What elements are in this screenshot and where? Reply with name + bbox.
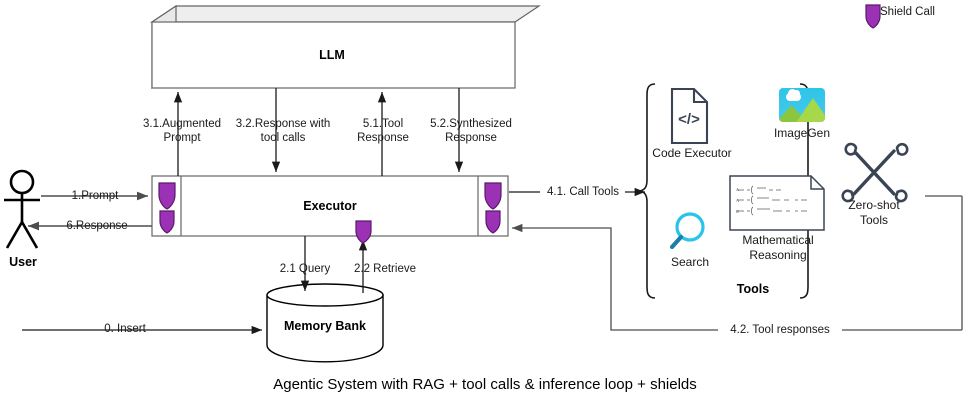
- image-picture-icon[interactable]: [779, 88, 825, 122]
- tools-left-brace: [640, 84, 655, 298]
- edge-label-prompt: 1.Prompt: [40, 189, 150, 203]
- llm-node-label: LLM: [232, 48, 432, 62]
- magnifying-glass-icon[interactable]: [672, 214, 703, 247]
- user-actor-label: User: [0, 255, 46, 269]
- tool-label-mathematical-reasoning: Mathematical Reasoning: [735, 233, 821, 263]
- edge-label-tool-responses: 4.2. Tool responses: [718, 323, 842, 337]
- edge-label-response: 6.Response: [42, 219, 152, 233]
- diagram-vector-layer: </> A A B: [0, 0, 970, 411]
- tool-label-search: Search: [655, 255, 725, 270]
- edge-label-tool-response: 5.1.Tool Response: [345, 117, 421, 145]
- edge-label-augmented-prompt: 3.1.Augmented Prompt: [138, 117, 226, 145]
- edge-label-insert: 0. Insert: [60, 322, 190, 336]
- edge-label-retrieve: 2.2 Retrieve: [330, 262, 440, 276]
- tool-label-imagegen: ImageGen: [757, 126, 847, 141]
- diagram-caption: Agentic System with RAG + tool calls & i…: [0, 376, 970, 393]
- shield-icon-executor-memory: [356, 221, 371, 243]
- tool-label-zero-shot-tools: Zero-shot Tools: [837, 198, 911, 228]
- tools-group-label: Tools: [718, 282, 788, 296]
- diagram-canvas: </> A A B: [0, 0, 970, 411]
- cloud-icon: [786, 93, 801, 101]
- image-hill-right: [795, 98, 825, 122]
- executor-node-label: Executor: [230, 199, 430, 213]
- edge-label-call-tools: 4.1. Call Tools: [540, 185, 626, 199]
- user-actor[interactable]: [4, 171, 40, 248]
- shield-icon-legend: [866, 5, 880, 28]
- svg-text:</>: </>: [678, 111, 700, 128]
- edge-label-synthesized-response: 5.2.Synthesized Response: [421, 117, 521, 145]
- memory-bank-node-label: Memory Bank: [265, 319, 385, 333]
- code-document-icon[interactable]: </>: [672, 89, 707, 143]
- svg-text:B: B: [736, 209, 739, 214]
- edge-label-response-with-tool-calls: 3.2.Response with tool calls: [235, 117, 331, 145]
- math-document-icon[interactable]: A A B: [730, 176, 824, 230]
- llm-node[interactable]: [152, 6, 539, 88]
- tool-label-code-executor: Code Executor: [647, 146, 737, 161]
- legend-shield-label: Shield Call: [880, 6, 935, 18]
- crossed-wrenches-icon[interactable]: [843, 144, 907, 201]
